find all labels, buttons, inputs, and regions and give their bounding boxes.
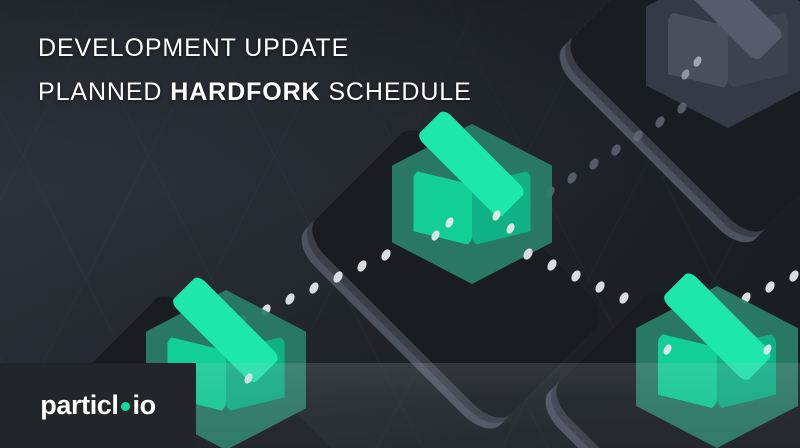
connector-dot bbox=[610, 143, 623, 157]
connector-dot bbox=[570, 269, 583, 283]
heading-line-1: DEVELOPMENT UPDATE bbox=[38, 26, 472, 70]
connector-dot bbox=[546, 258, 559, 272]
connector-dot bbox=[522, 247, 535, 261]
connector-dot bbox=[380, 248, 393, 262]
connector-dot bbox=[788, 269, 800, 283]
heading-group: DEVELOPMENT UPDATE PLANNED HARDFORK SCHE… bbox=[38, 26, 472, 114]
cube-faces bbox=[636, 286, 798, 448]
connector-dot bbox=[308, 281, 321, 295]
banner-canvas: DEVELOPMENT UPDATE PLANNED HARDFORK SCHE… bbox=[0, 0, 800, 448]
connector-dot bbox=[654, 115, 667, 129]
logo-dot-icon bbox=[121, 402, 130, 411]
connector-dot bbox=[676, 101, 689, 115]
logo-wordmark: particlio bbox=[40, 390, 155, 421]
heading-line-2-prefix: PLANNED bbox=[38, 78, 170, 106]
connector-dot bbox=[332, 270, 345, 284]
connector-dot bbox=[594, 280, 607, 294]
connector-dot bbox=[632, 129, 645, 143]
logo-text-part1: particl bbox=[40, 390, 118, 421]
logo-text-part2: io bbox=[133, 390, 156, 421]
heading-line-2: PLANNED HARDFORK SCHEDULE bbox=[38, 70, 472, 114]
node-cube-bottom-right bbox=[636, 286, 798, 448]
connector-dot bbox=[356, 259, 369, 273]
heading-line-2-suffix: SCHEDULE bbox=[321, 78, 472, 106]
heading-line-2-emphasis: HARDFORK bbox=[170, 78, 320, 106]
logo-block[interactable]: particlio bbox=[0, 363, 196, 448]
